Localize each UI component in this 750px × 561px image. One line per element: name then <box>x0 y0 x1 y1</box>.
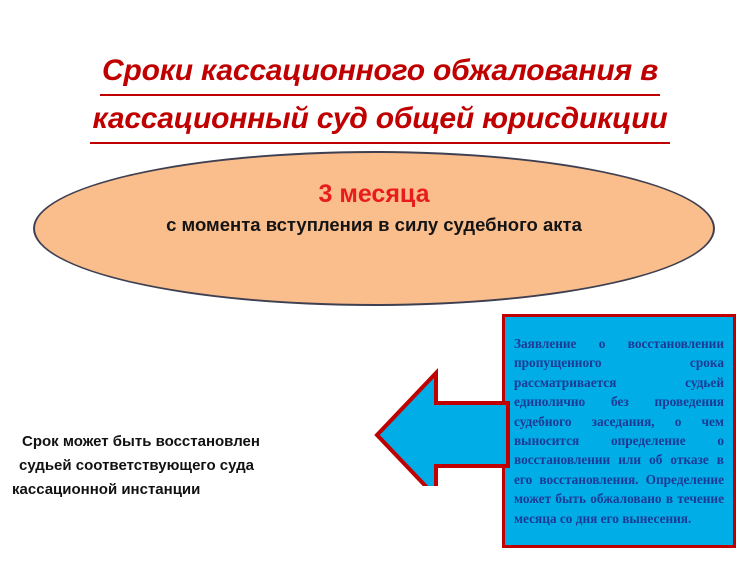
deadline-description-label: с момента вступления в силу судебного ак… <box>125 212 623 238</box>
left-arrow-icon <box>370 366 512 486</box>
restoration-caption-line-1: Срок может быть восстановлен <box>12 430 292 454</box>
left-arrow-shape <box>370 366 512 486</box>
page-title-line-2-text: кассационный суд общей юрисдикции <box>90 96 669 144</box>
restoration-caption-line-3: кассационной инстанции <box>12 478 292 502</box>
restoration-info-box: Заявление о восстановлении пропущенного … <box>502 314 736 548</box>
deadline-ellipse-shape: 3 месяца с момента вступления в силу суд… <box>33 151 715 306</box>
page-title: Сроки кассационного обжалования в кассац… <box>50 48 710 144</box>
page-title-line-1-text: Сроки кассационного обжалования в <box>100 48 660 96</box>
restoration-caption: Срок может быть восстановлен судьей соот… <box>12 430 292 502</box>
page-title-line-1: Сроки кассационного обжалования в <box>50 48 710 96</box>
page-title-line-2: кассационный суд общей юрисдикции <box>50 96 710 144</box>
slide-canvas: Сроки кассационного обжалования в кассац… <box>0 0 750 561</box>
restoration-caption-line-2: судьей соответствующего суда <box>12 454 292 478</box>
deadline-ellipse-text-group: 3 месяца с момента вступления в силу суд… <box>35 179 713 238</box>
deadline-duration-label: 3 месяца <box>125 179 623 210</box>
restoration-info-text: Заявление о восстановлении пропущенного … <box>514 334 724 528</box>
